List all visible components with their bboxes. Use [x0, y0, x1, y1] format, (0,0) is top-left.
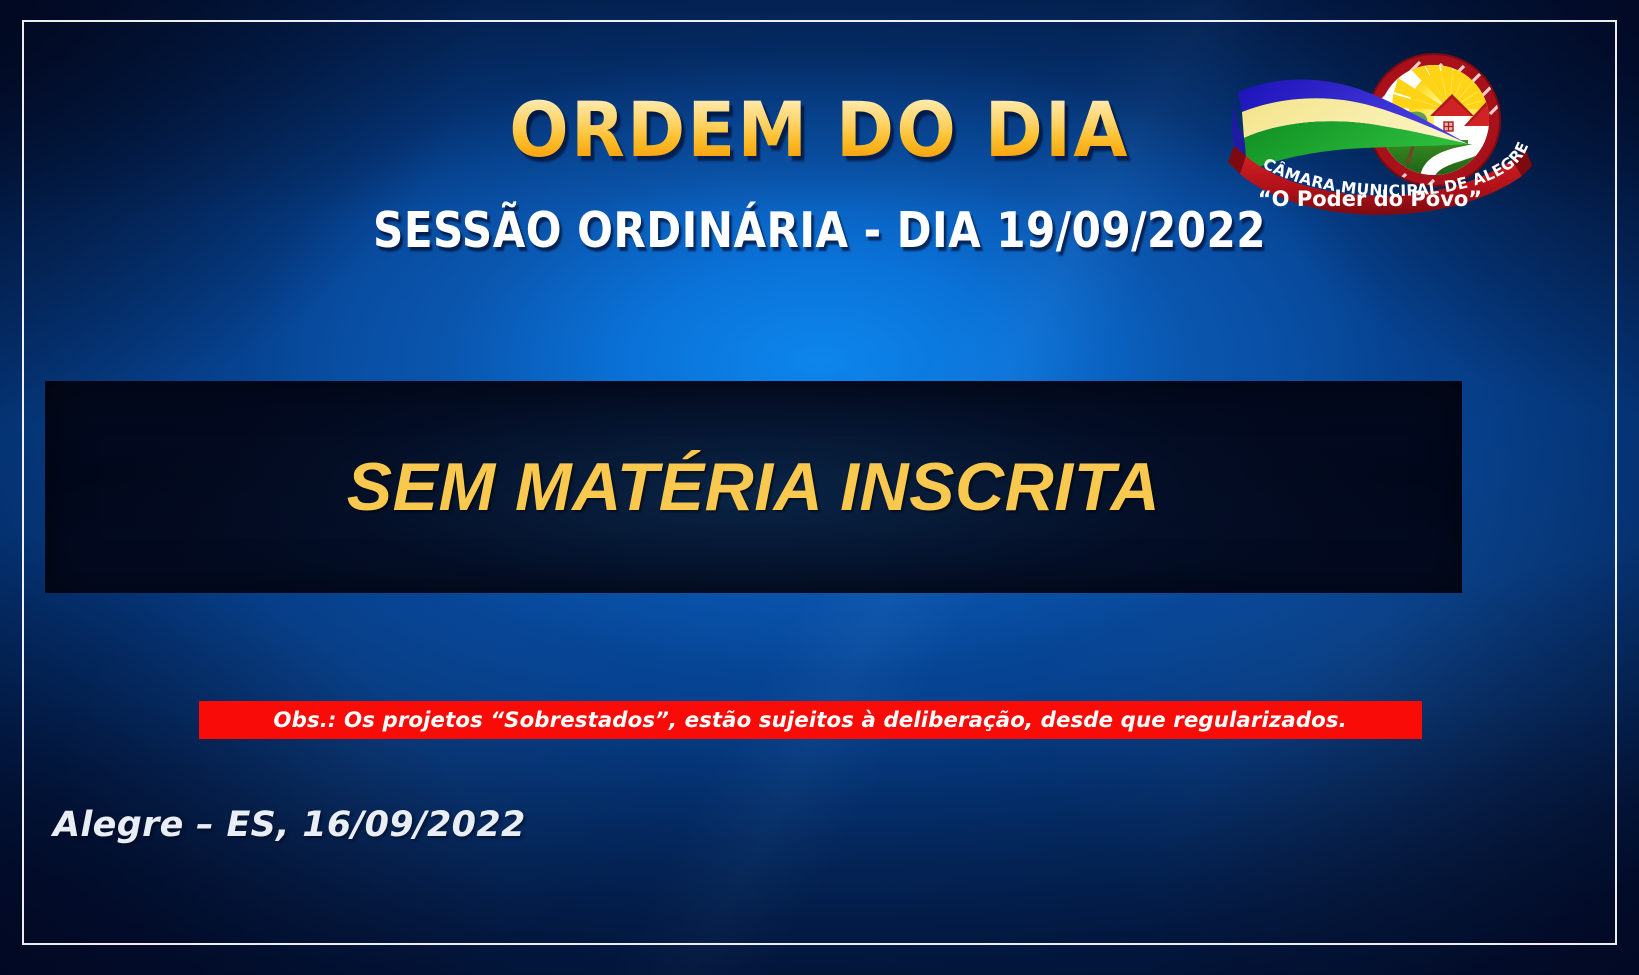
- footer-place-date: Alegre – ES, 16/09/2022: [53, 805, 526, 845]
- logo-artwork: CÂMARA MUNICIPAL DE ALEGRE - ES “O Poder…: [1206, 34, 1532, 224]
- slide-canvas: ORDEM DO DIA SESSÃO ORDINÁRIA - DIA 19/0…: [0, 0, 1639, 975]
- observation-text: Obs.: Os projetos “Sobrestados”, estão s…: [274, 708, 1347, 733]
- agenda-content-panel: SEM MATÉRIA INSCRITA: [45, 381, 1462, 593]
- agenda-status-text: SEM MATÉRIA INSCRITA: [347, 448, 1160, 526]
- logo-motto: “O Poder do Povo”: [1258, 187, 1482, 211]
- camara-municipal-logo: CÂMARA MUNICIPAL DE ALEGRE - ES “O Poder…: [1206, 34, 1532, 224]
- observation-banner: Obs.: Os projetos “Sobrestados”, estão s…: [199, 701, 1422, 739]
